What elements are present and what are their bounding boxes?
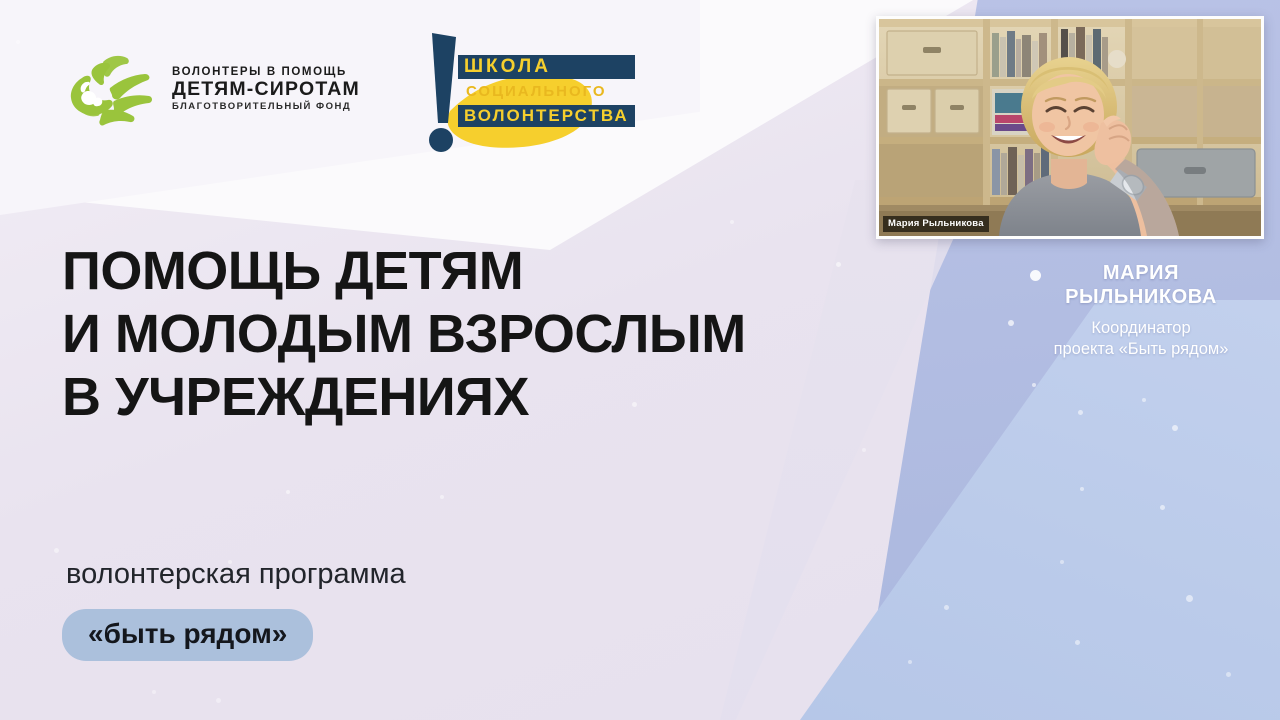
school-line-2: СОЦИАЛЬНОГО <box>458 82 635 102</box>
webcam-still-image <box>879 19 1261 236</box>
slide-canvas: ВОЛОНТЕРЫ В ПОМОЩЬ ДЕТЯМ-СИРОТАМ БЛАГОТВ… <box>0 0 1280 720</box>
fund-line-2: ДЕТЯМ-СИРОТАМ <box>172 80 360 100</box>
video-feed: Мария Рыльникова <box>879 19 1261 236</box>
speaker-last-name: РЫЛЬНИКОВА <box>1010 286 1272 310</box>
logo-school-of-social-volunteering: ШКОЛА СОЦИАЛЬНОГО ВОЛОНТЕРСТВА <box>412 19 612 159</box>
speaker-first-name: МАРИЯ <box>1010 262 1272 286</box>
fund-line-3: БЛАГОТВОРИТЕЛЬНЫЙ ФОНД <box>172 102 360 112</box>
logo-group: ВОЛОНТЕРЫ В ПОМОЩЬ ДЕТЯМ-СИРОТАМ БЛАГОТВ… <box>62 34 612 144</box>
fund-line-1: ВОЛОНТЕРЫ В ПОМОЩЬ <box>172 67 360 79</box>
speaker-role-line-1: Координатор <box>1010 318 1272 339</box>
slide-subtitle: волонтерская программа <box>66 558 406 591</box>
school-line-1: ШКОЛА <box>458 55 635 79</box>
fund-wordmark: ВОЛОНТЕРЫ В ПОМОЩЬ ДЕТЯМ-СИРОТАМ БЛАГОТВ… <box>172 67 360 112</box>
video-tile[interactable]: Мария Рыльникова <box>876 16 1264 239</box>
title-line-2: И МОЛОДЫМ ВЗРОСЛЫМ <box>62 303 922 366</box>
participant-name-label: Мария Рыльникова <box>883 216 989 232</box>
speaker-role: Координатор проекта «Быть рядом» <box>1010 318 1272 360</box>
program-name-badge: «быть рядом» <box>62 609 313 661</box>
hand-in-hand-icon <box>62 52 158 126</box>
speaker-caption: МАРИЯ РЫЛЬНИКОВА Координатор проекта «Бы… <box>1010 262 1272 360</box>
title-line-1: ПОМОЩЬ ДЕТЯМ <box>62 240 922 303</box>
speaker-name: МАРИЯ РЫЛЬНИКОВА <box>1010 262 1272 309</box>
school-line-3: ВОЛОНТЕРСТВА <box>458 105 635 127</box>
title-line-3: В УЧРЕЖДЕНИЯХ <box>62 366 922 429</box>
school-wordmark: ШКОЛА СОЦИАЛЬНОГО ВОЛОНТЕРСТВА <box>458 55 635 127</box>
slide-title: ПОМОЩЬ ДЕТЯМ И МОЛОДЫМ ВЗРОСЛЫМ В УЧРЕЖД… <box>62 240 922 430</box>
speaker-role-line-2: проекта «Быть рядом» <box>1010 339 1272 360</box>
logo-charity-fund: ВОЛОНТЕРЫ В ПОМОЩЬ ДЕТЯМ-СИРОТАМ БЛАГОТВ… <box>62 52 360 126</box>
